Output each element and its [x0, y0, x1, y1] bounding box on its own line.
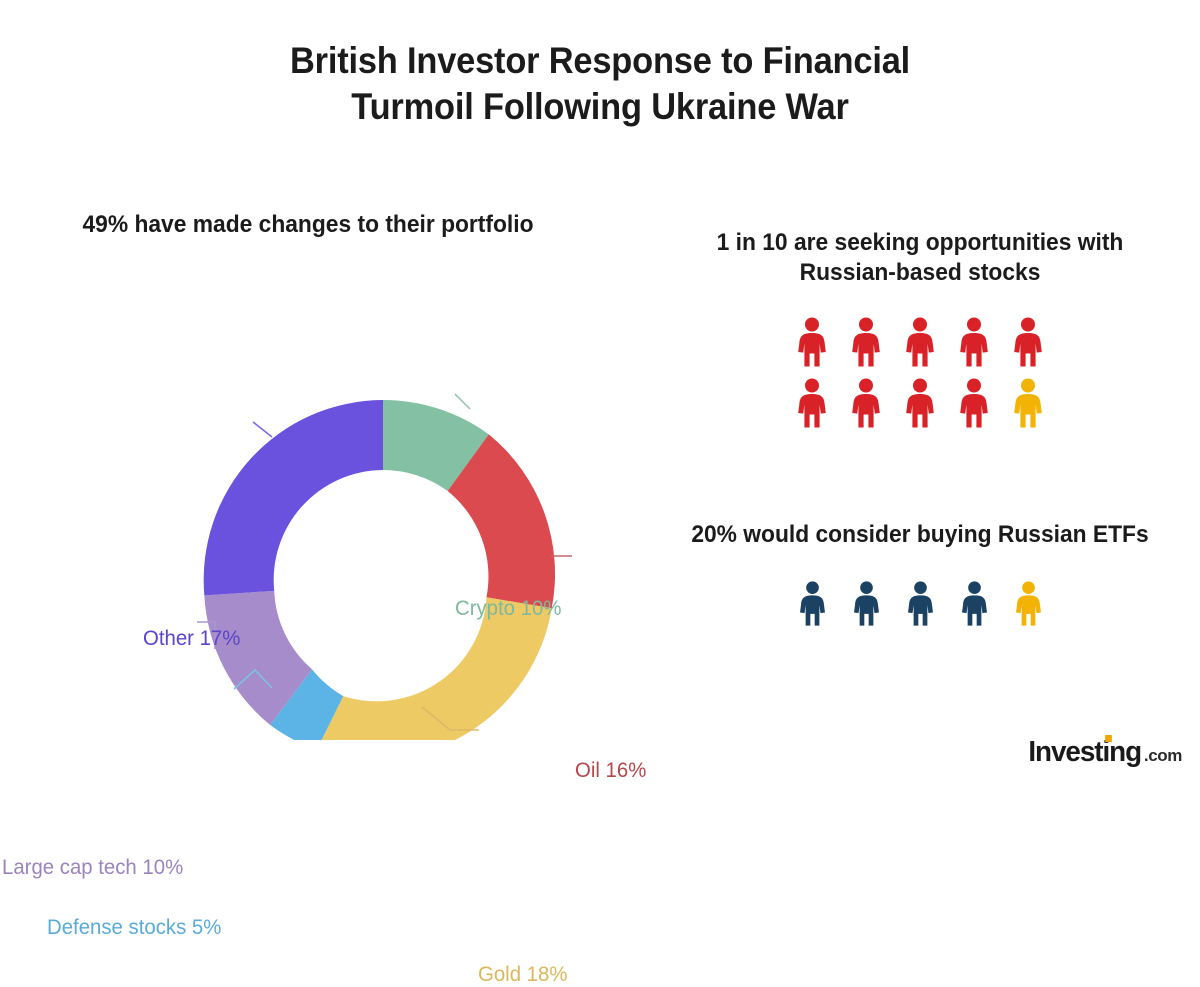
- person-icon: [797, 580, 828, 627]
- russian-stocks-heading-line-2: Russian-based stocks: [800, 259, 1041, 286]
- page-title-line-2: Turmoil Following Ukraine War: [42, 84, 1158, 130]
- person-icon: [1011, 316, 1045, 368]
- person-icon: [959, 580, 990, 627]
- russian-etfs-stat-block: 20% would consider buying Russian ETFs: [640, 520, 1200, 627]
- russian-stocks-heading-line-1: 1 in 10 are seeking opportunities with: [717, 229, 1124, 256]
- person-icon: [849, 377, 883, 429]
- donut-chart-svg: [0, 270, 640, 740]
- investing-com-logo[interactable]: Investing .com: [1026, 736, 1182, 769]
- page-title-line-1: British Investor Response to Financial: [42, 38, 1158, 84]
- donut-chart: Crypto 10% Oil 16% Gold 18% Defense stoc…: [0, 270, 640, 740]
- pictogram-russian-etfs: [640, 580, 1200, 627]
- pictogram-russian-stocks: [640, 316, 1200, 429]
- statistics-panel: 1 in 10 are seeking opportunities with R…: [640, 210, 1200, 770]
- donut-chart-panel: 49% have made changes to their portfolio: [0, 210, 640, 770]
- person-icon: [795, 316, 829, 368]
- donut-label-large-cap-tech: Large cap tech 10%: [2, 856, 183, 880]
- logo-wordmark-text: Investing: [1028, 736, 1141, 768]
- logo-wordmark: Investing: [1028, 736, 1141, 769]
- person-icon-highlighted: [1013, 580, 1044, 627]
- person-icon: [905, 580, 936, 627]
- donut-slice-other[interactable]: [204, 400, 383, 595]
- donut-label-oil: Oil 16%: [575, 759, 646, 783]
- leader-line-other: [253, 422, 272, 437]
- russian-etfs-heading: 20% would consider buying Russian ETFs: [683, 520, 1158, 550]
- person-icon-highlighted: [1011, 377, 1045, 429]
- russian-stocks-heading: 1 in 10 are seeking opportunities with R…: [683, 228, 1158, 288]
- page-title: British Investor Response to Financial T…: [42, 38, 1158, 130]
- logo-domain-suffix: .com: [1144, 746, 1182, 766]
- donut-label-gold: Gold 18%: [478, 963, 567, 987]
- pictogram-row: [795, 316, 1045, 368]
- donut-label-other: Other 17%: [143, 627, 240, 651]
- pictogram-row: [797, 580, 1044, 627]
- person-icon: [903, 316, 937, 368]
- person-icon: [849, 316, 883, 368]
- pictogram-row: [795, 377, 1045, 429]
- person-icon: [851, 580, 882, 627]
- russian-stocks-stat-block: 1 in 10 are seeking opportunities with R…: [640, 228, 1200, 429]
- person-icon: [795, 377, 829, 429]
- donut-label-defense-stocks: Defense stocks 5%: [47, 916, 221, 940]
- person-icon: [957, 377, 991, 429]
- donut-chart-heading: 49% have made changes to their portfolio: [23, 210, 593, 240]
- person-icon: [957, 316, 991, 368]
- donut-label-crypto: Crypto 10%: [455, 597, 561, 621]
- leader-line-crypto: [455, 394, 470, 409]
- person-icon: [903, 377, 937, 429]
- logo-accent-dot-icon: [1105, 735, 1112, 742]
